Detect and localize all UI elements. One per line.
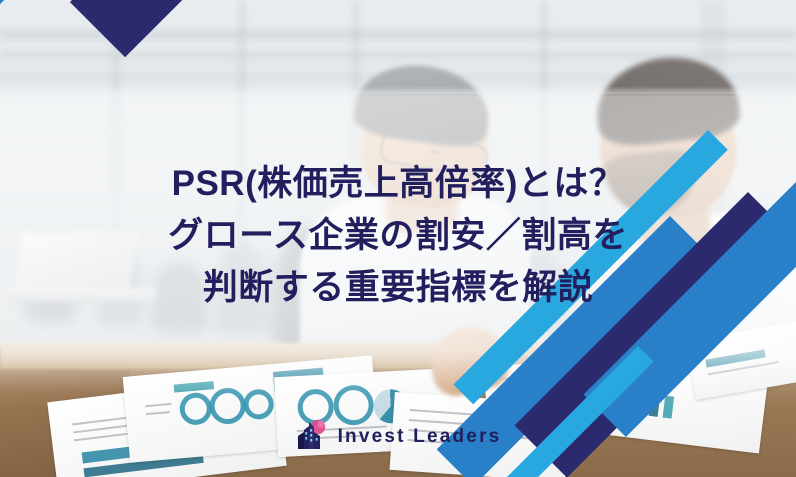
article-thumbnail-banner: PSR(株価売上高倍率)とは？ グロース企業の割安／割高を 判断する重要指標を解… (0, 0, 796, 477)
banner-title: PSR(株価売上高倍率)とは？ グロース企業の割安／割高を 判断する重要指標を解… (0, 158, 796, 314)
title-line-2: グロース企業の割安／割高を (0, 210, 796, 262)
building-chart-icon (295, 418, 329, 455)
brand-logo: Invest Leaders (0, 418, 796, 455)
title-line-1: PSR(株価売上高倍率)とは？ (0, 158, 796, 210)
brand-name: Invest Leaders (338, 426, 502, 448)
title-line-3: 判断する重要指標を解説 (0, 262, 796, 314)
desk-far-edge (0, 343, 796, 369)
